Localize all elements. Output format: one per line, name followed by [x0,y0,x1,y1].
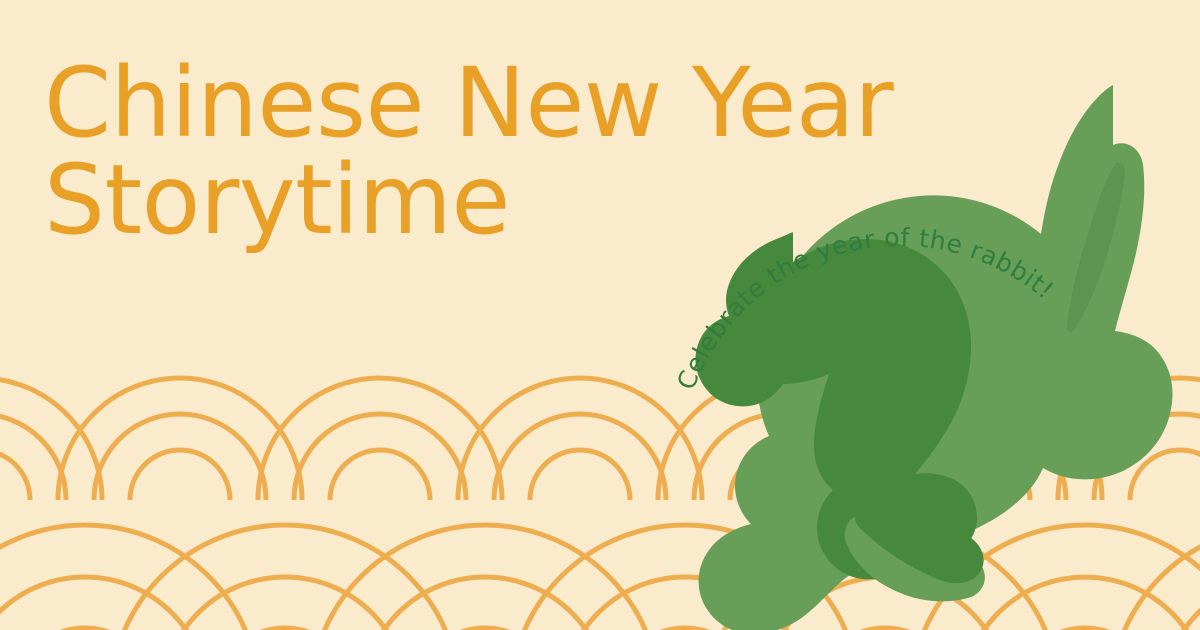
tagline-textpath: Celebrate the year of the rabbit! [671,223,1059,394]
headline-line-1: Chinese New Year [44,56,724,151]
tagline-text: Celebrate the year of the rabbit! [671,223,1059,394]
headline-block: Chinese New Year Storytime [44,56,724,248]
poster-canvas: Celebrate the year of the rabbit! Chines… [0,0,1200,630]
headline-line-2: Storytime [44,153,724,248]
